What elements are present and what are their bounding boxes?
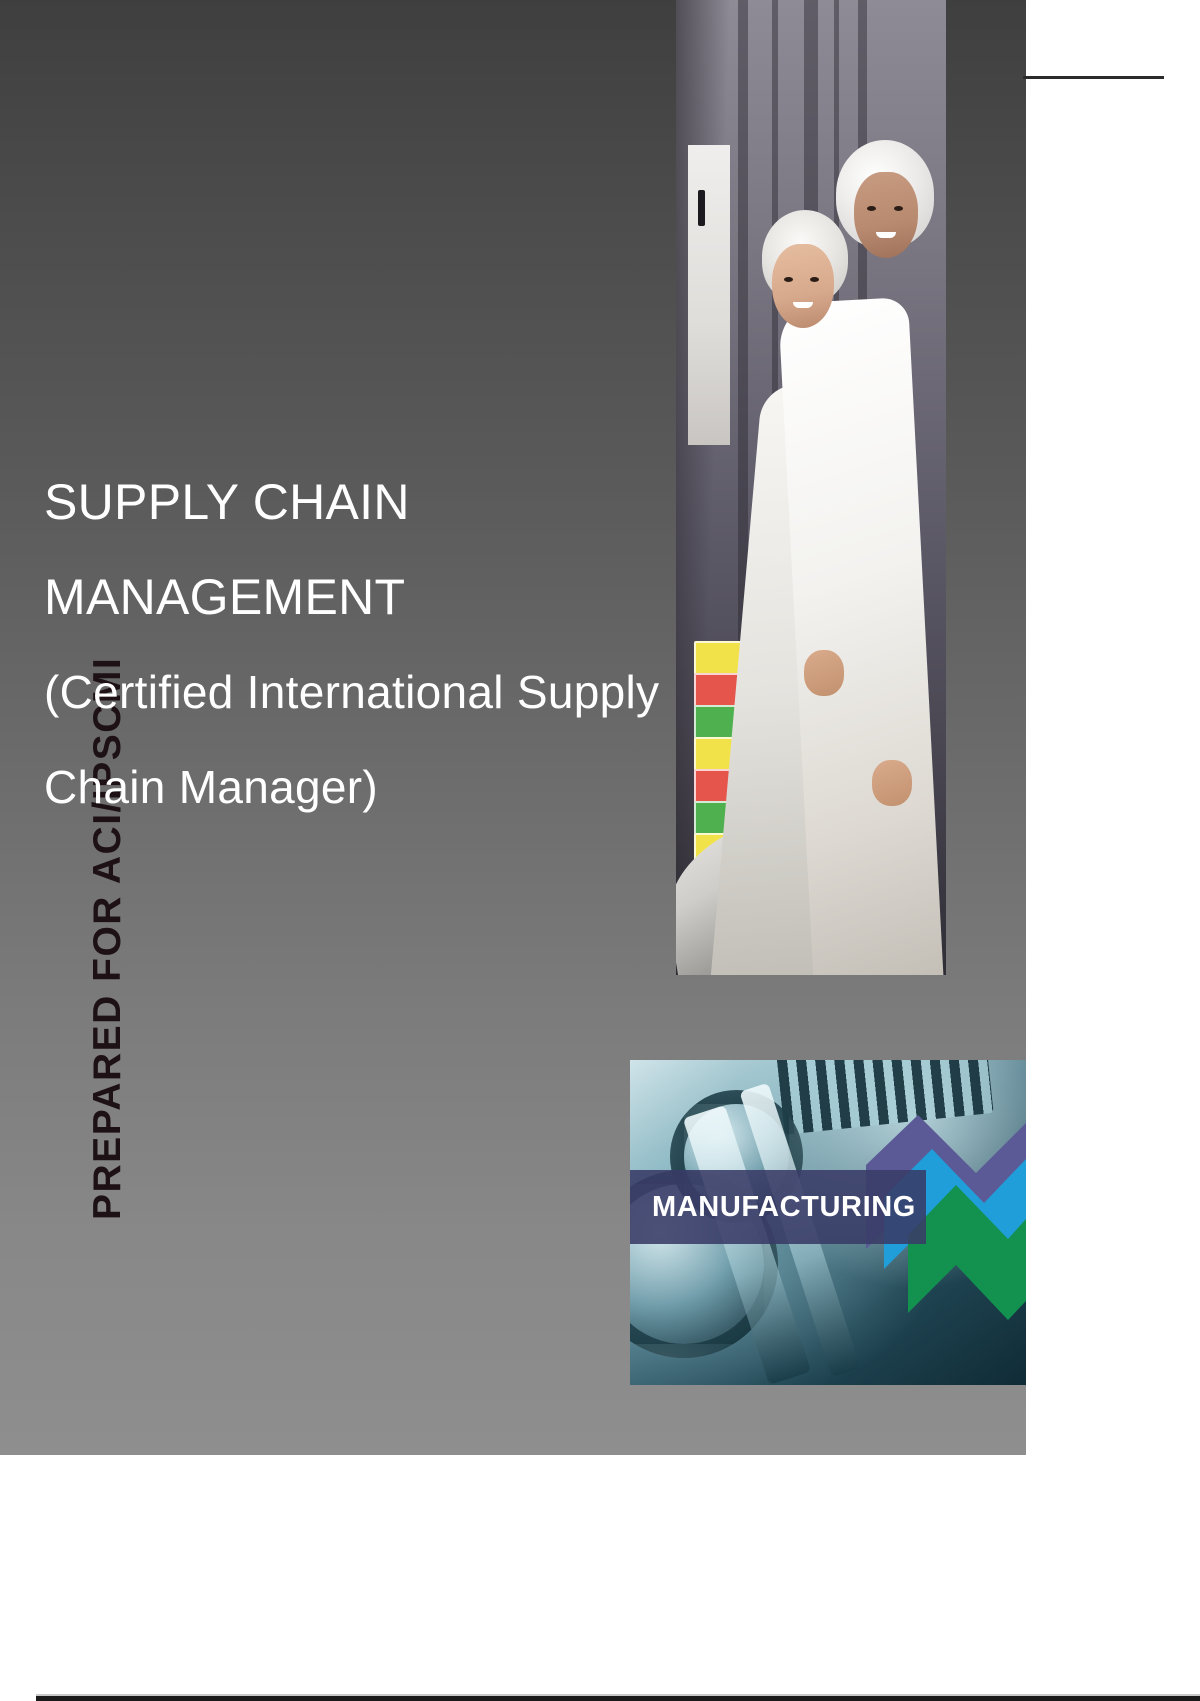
title-line-1: SUPPLY CHAIN (44, 455, 624, 550)
worker-hand (872, 760, 912, 806)
control-cabinet (688, 145, 730, 445)
title-line-4: Chain Manager) (44, 740, 624, 835)
manufacturing-photo: MANUFACTURING (630, 1060, 1026, 1385)
manufacturing-banner-label: MANUFACTURING (630, 1191, 916, 1224)
title-block: SUPPLY CHAIN MANAGEMENT (Certified Inter… (44, 455, 624, 835)
worker-b-face (772, 244, 834, 328)
slide-page: PREPARED FOR ACI/IPSCMI SUPPLY CHAIN MAN… (0, 0, 1200, 1700)
cabinet-switch-icon (698, 190, 705, 226)
title-line-3: (Certified International Supply (44, 645, 624, 740)
worker-hand (804, 650, 844, 696)
factory-workers-photo (676, 0, 946, 975)
title-line-2: MANAGEMENT (44, 550, 624, 645)
top-right-rule (1023, 76, 1164, 79)
manufacturing-banner: MANUFACTURING (630, 1170, 926, 1244)
worker-a-face (854, 172, 918, 258)
